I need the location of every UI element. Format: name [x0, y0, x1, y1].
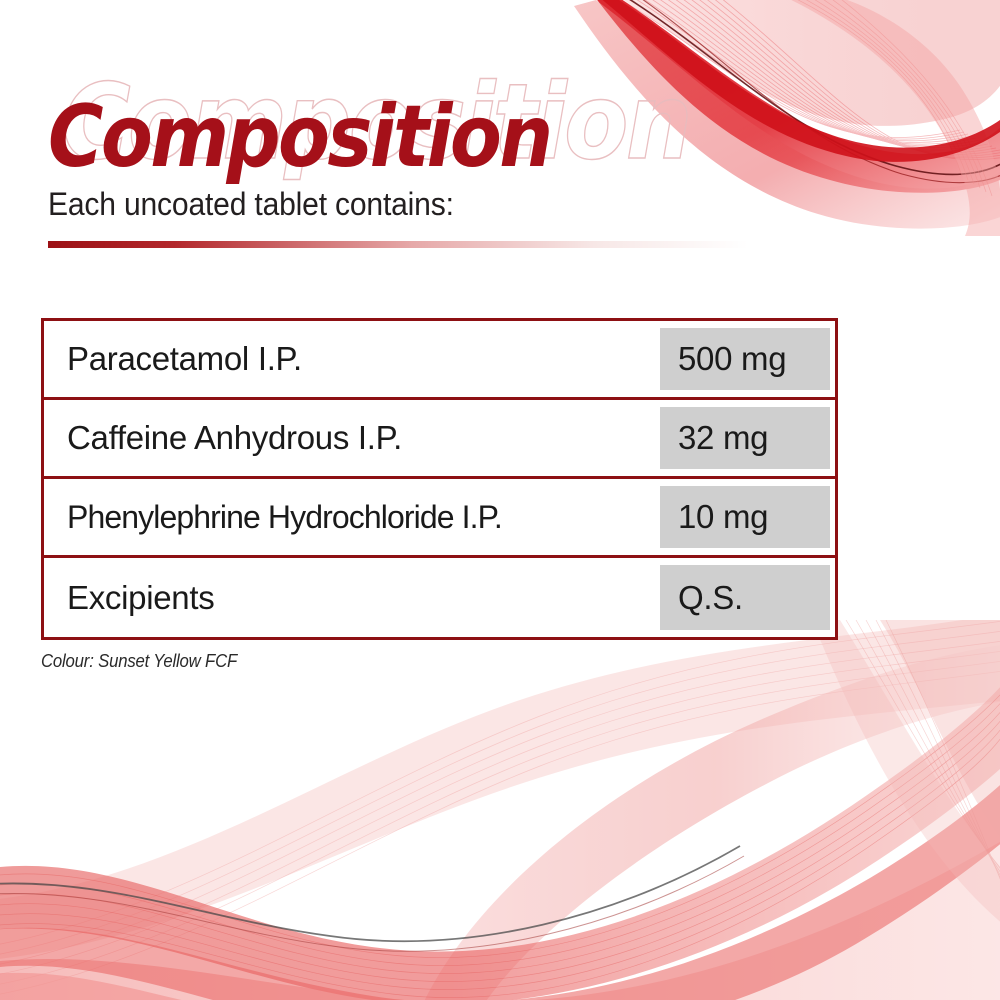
ingredient-name: Excipients: [44, 558, 660, 637]
page-title: Composition Composition: [48, 88, 688, 198]
ingredient-name: Phenylephrine Hydrochloride I.P.: [44, 479, 660, 555]
composition-page: Composition Composition Each uncoated ta…: [0, 0, 1000, 1000]
ingredient-name: Paracetamol I.P.: [44, 321, 660, 397]
table-row: Paracetamol I.P. 500 mg: [44, 321, 835, 400]
ingredient-value: Q.S.: [660, 565, 830, 630]
ingredient-value: 500 mg: [660, 328, 830, 390]
table-row: Caffeine Anhydrous I.P. 32 mg: [44, 400, 835, 479]
table-row: Excipients Q.S.: [44, 558, 835, 637]
red-gradient-rule: [48, 241, 748, 248]
ingredient-value: 32 mg: [660, 407, 830, 469]
table-row: Phenylephrine Hydrochloride I.P. 10 mg: [44, 479, 835, 558]
composition-table: Paracetamol I.P. 500 mg Caffeine Anhydro…: [41, 318, 838, 640]
page-subtitle: Each uncoated tablet contains:: [48, 186, 454, 223]
ingredient-name: Caffeine Anhydrous I.P.: [44, 400, 660, 476]
colour-note: Colour: Sunset Yellow FCF: [41, 651, 237, 672]
ingredient-value: 10 mg: [660, 486, 830, 548]
page-title-text: Composition: [48, 94, 550, 180]
